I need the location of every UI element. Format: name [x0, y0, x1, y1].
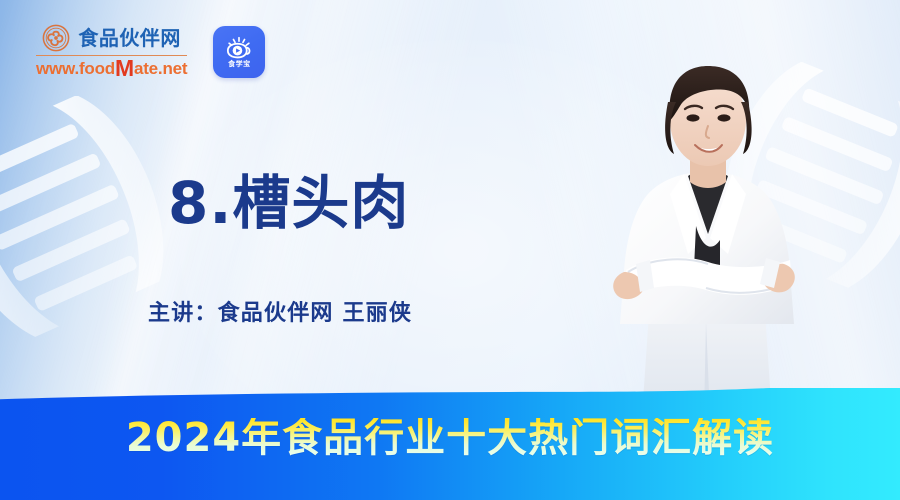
foodmate-logo[interactable]: 食品伙伴网 www.foodMate.net [36, 24, 187, 80]
foodmate-url-prefix: www.food [36, 59, 115, 78]
header-logo-row: 食品伙伴网 www.foodMate.net 食学宝 [36, 24, 265, 80]
page-subtitle-presenter: 主讲：食品伙伴网 王丽侠 [148, 303, 412, 325]
shixuebao-app-badge[interactable]: 食学宝 [213, 26, 265, 78]
foodmate-divider [36, 55, 187, 56]
bottom-banner: 2024年食品行业十大热门词汇解读 [0, 388, 900, 500]
speaker-portrait [592, 58, 822, 416]
eye-play-rays-icon [224, 36, 254, 60]
foodmate-url-suffix: ate.net [134, 59, 187, 78]
foodmate-url-accent-m: M [115, 55, 134, 81]
foodmate-flower-mark-icon [42, 24, 70, 52]
shixuebao-badge-label: 食学宝 [228, 61, 251, 68]
presentation-slide: 食品伙伴网 www.foodMate.net 食学宝 [0, 0, 900, 500]
page-title: 8.槽头肉 [168, 174, 409, 232]
foodmate-logo-top: 食品伙伴网 [42, 24, 181, 52]
banner-headline: 2024年食品行业十大热门词汇解读 [0, 418, 900, 458]
foodmate-brand-name: 食品伙伴网 [78, 28, 181, 48]
foodmate-url: www.foodMate.net [36, 57, 187, 80]
